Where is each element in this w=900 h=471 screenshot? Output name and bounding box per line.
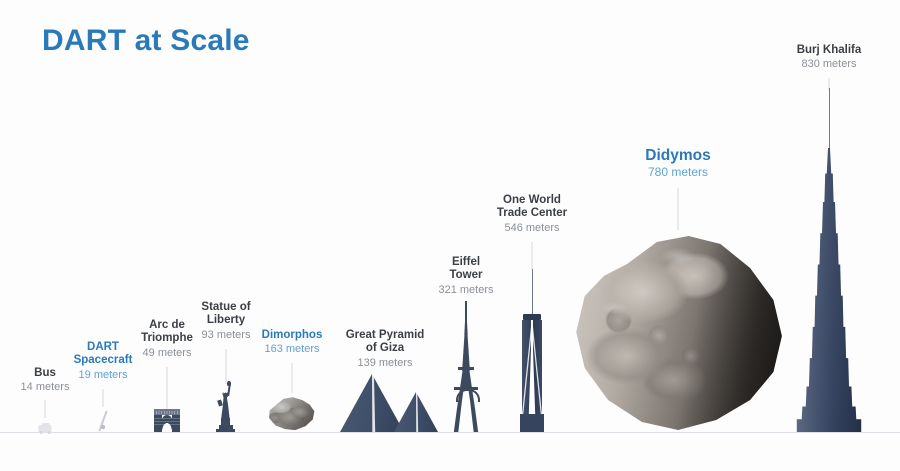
label-dart-spacecraft-name-line2: Spacecraft [74, 354, 133, 367]
label-dimorphos-meters: 163 meters [262, 343, 323, 356]
label-eiffel-tower-name-line2: Tower [438, 269, 493, 282]
label-dimorphos: Dimorphos 163 meters [262, 329, 323, 356]
label-owtc-name-line1: One World [497, 194, 567, 207]
burj-khalifa-icon [794, 88, 864, 432]
leader-line-statue-of-liberty [226, 349, 227, 384]
label-great-pyramid-meters: 139 meters [346, 357, 425, 370]
label-statue-of-liberty-name-line1: Statue of [201, 301, 250, 314]
leader-line-bus [45, 400, 46, 418]
page-title: DART at Scale [42, 24, 250, 58]
label-eiffel-tower: Eiffel Tower 321 meters [438, 256, 493, 296]
label-dimorphos-name: Dimorphos [262, 329, 323, 342]
label-arc-de-triomphe-name-line1: Arc de [141, 319, 193, 332]
leader-line-one-world-trade-center [532, 242, 533, 270]
label-owtc-name-line2: Trade Center [497, 207, 567, 220]
ground-baseline [0, 432, 900, 433]
label-statue-of-liberty-name-line2: Liberty [201, 314, 250, 327]
statue-of-liberty-icon [215, 384, 237, 432]
label-eiffel-tower-meters: 321 meters [438, 284, 493, 297]
leader-line-dimorphos [292, 363, 293, 393]
label-great-pyramid-name-line2: of Giza [346, 342, 425, 355]
label-burj-khalifa-meters: 830 meters [797, 58, 862, 71]
label-dart-spacecraft-meters: 19 meters [74, 369, 133, 382]
label-dart-spacecraft: DART Spacecraft 19 meters [74, 341, 133, 381]
leader-line-dart-spacecraft [103, 389, 104, 407]
dart-at-scale-infographic: DART at Scale Bus 14 meters DART Spacecr… [0, 0, 900, 471]
label-dart-spacecraft-name-line1: DART [74, 341, 133, 354]
dimorphos-asteroid-icon [266, 395, 318, 432]
eiffel-tower-icon [449, 301, 483, 432]
label-bus-name: Bus [21, 367, 70, 380]
bus-icon [39, 425, 52, 432]
label-didymos-name: Didymos [645, 147, 710, 165]
label-statue-of-liberty-meters: 93 meters [201, 329, 250, 342]
label-one-world-trade-center: One World Trade Center 546 meters [497, 194, 567, 234]
label-bus: Bus 14 meters [21, 367, 70, 394]
label-eiffel-tower-name-line1: Eiffel [438, 256, 493, 269]
label-great-pyramid-name-line1: Great Pyramid [346, 329, 425, 342]
pyramid-icon [340, 370, 438, 432]
didymos-asteroid-icon [572, 232, 784, 432]
label-arc-de-triomphe: Arc de Triomphe 49 meters [141, 319, 193, 359]
leader-line-didymos [678, 188, 679, 230]
label-owtc-meters: 546 meters [497, 222, 567, 235]
dart-spacecraft-icon [94, 410, 112, 432]
label-bus-meters: 14 meters [21, 381, 70, 394]
arc-de-triomphe-icon [154, 409, 180, 432]
label-arc-de-triomphe-name-line2: Triomphe [141, 332, 193, 345]
label-didymos-meters: 780 meters [645, 166, 710, 180]
label-burj-khalifa: Burj Khalifa 830 meters [797, 44, 862, 71]
leader-line-arc-de-triomphe [167, 367, 168, 409]
label-great-pyramid-of-giza: Great Pyramid of Giza 139 meters [346, 329, 425, 369]
label-burj-khalifa-name: Burj Khalifa [797, 44, 862, 57]
label-arc-de-triomphe-meters: 49 meters [141, 347, 193, 360]
one-world-trade-center-icon [515, 269, 549, 432]
label-didymos: Didymos 780 meters [645, 147, 710, 180]
label-statue-of-liberty: Statue of Liberty 93 meters [201, 301, 250, 341]
